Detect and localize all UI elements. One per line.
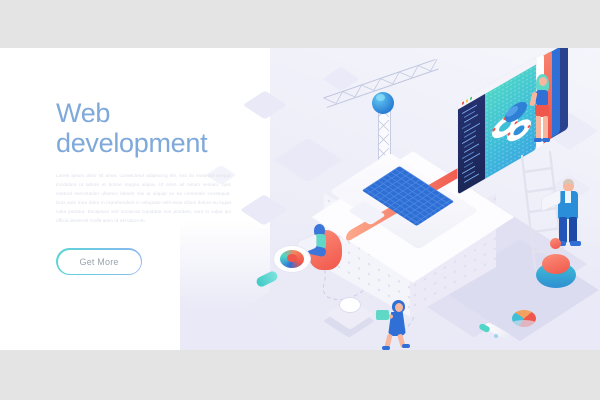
- ladder-woman-top: [536, 90, 548, 106]
- dome-cap: [542, 254, 570, 274]
- man-trousers: [569, 217, 577, 243]
- disc-ring: [340, 298, 360, 312]
- letterbox-top: [0, 0, 600, 48]
- page-title: Web development: [56, 98, 231, 158]
- walking-woman-shoe: [402, 344, 410, 348]
- crane-globe-highlight: [376, 94, 385, 101]
- hero-copy: Web development Lorem ipsum dolor sit am…: [56, 98, 231, 275]
- ladder-woman-leg: [543, 116, 548, 140]
- man-shoe: [570, 241, 581, 246]
- title-line-1: Web: [56, 98, 110, 128]
- hero-section: Web development Lorem ipsum dolor sit am…: [0, 48, 600, 350]
- ladder-woman-shoe: [534, 138, 542, 142]
- dome-sphere: [550, 238, 561, 249]
- hero-body-text: Lorem ipsum dolor sit amet, consectetur …: [56, 172, 231, 226]
- title-line-2: development: [56, 128, 207, 158]
- get-more-button-label: Get More: [58, 250, 141, 274]
- magnifier-target-center: [287, 254, 297, 262]
- rocket-window: [494, 334, 498, 338]
- walking-woman-package: [376, 310, 389, 320]
- man-hair: [563, 179, 574, 184]
- letterbox-bottom: [0, 350, 600, 400]
- ladder-woman-leg: [536, 116, 541, 140]
- pie-chart-shadow: [510, 320, 538, 329]
- isometric-illustration: [236, 48, 600, 350]
- ladder-woman-face: [539, 77, 547, 86]
- cta-wrapper: Get More: [56, 248, 231, 275]
- walking-woman-face: [395, 303, 403, 312]
- get-more-button[interactable]: Get More: [56, 248, 142, 275]
- magnifier-handle: [255, 270, 279, 289]
- man-shirt: [565, 191, 571, 203]
- ladder-woman-shoe: [542, 138, 550, 142]
- screenshot-stage: Web development Lorem ipsum dolor sit am…: [0, 0, 600, 400]
- code-editor-panel: [458, 94, 485, 195]
- man-trousers: [559, 217, 567, 243]
